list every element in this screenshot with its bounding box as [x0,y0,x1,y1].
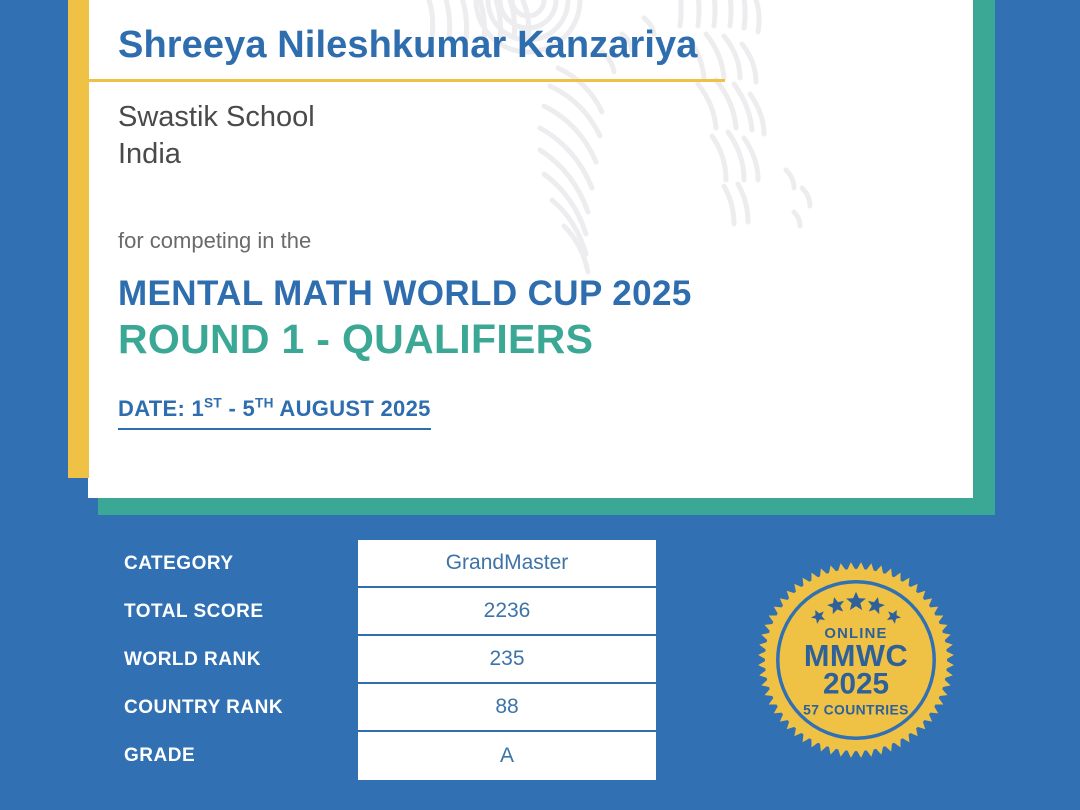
table-row: COUNTRY RANK 88 [124,684,656,732]
seal-year-text: 2025 [823,668,889,701]
table-row: CATEGORY GrandMaster [124,540,656,588]
recipient-country: India [118,136,973,173]
date-middle: - 5 [222,396,255,421]
mmwc-seal-badge: ONLINE MMWC 2025 57 COUNTRIES [757,561,955,759]
date-ordinal-second: TH [255,396,274,411]
recipient-name: Shreeya Nileshkumar Kanzariya [118,0,973,66]
name-underline-rule [88,79,725,82]
result-label: WORLD RANK [124,636,358,684]
result-value: A [358,732,656,780]
results-table: CATEGORY GrandMaster TOTAL SCORE 2236 WO… [124,540,656,780]
event-date: DATE: 1ST - 5TH AUGUST 2025 [118,396,431,422]
seal-countries-text: 57 COUNTRIES [803,701,909,717]
result-label: TOTAL SCORE [124,588,358,636]
certificate-card: Shreeya Nileshkumar Kanzariya Swastik Sc… [88,0,973,498]
event-round: ROUND 1 - QUALIFIERS [118,319,973,360]
date-suffix: AUGUST 2025 [274,396,431,421]
certificate-page: Shreeya Nileshkumar Kanzariya Swastik Sc… [0,0,1080,810]
result-value: 235 [358,636,656,684]
result-label: COUNTRY RANK [124,684,358,732]
recipient-school: Swastik School [118,99,973,136]
date-ordinal-first: ST [204,396,222,411]
gold-accent-bar [68,0,89,478]
result-value: 2236 [358,588,656,636]
table-row: WORLD RANK 235 [124,636,656,684]
event-date-block: DATE: 1ST - 5TH AUGUST 2025 [118,396,431,430]
table-row: TOTAL SCORE 2236 [124,588,656,636]
intro-text: for competing in the [118,228,973,254]
result-label: GRADE [124,732,358,780]
table-row: GRADE A [124,732,656,780]
date-prefix: DATE: 1 [118,396,204,421]
result-label: CATEGORY [124,540,358,588]
result-value: 88 [358,684,656,732]
event-title: MENTAL MATH WORLD CUP 2025 [118,276,973,311]
seal-icon: ONLINE MMWC 2025 57 COUNTRIES [757,561,955,759]
result-value: GrandMaster [358,540,656,588]
